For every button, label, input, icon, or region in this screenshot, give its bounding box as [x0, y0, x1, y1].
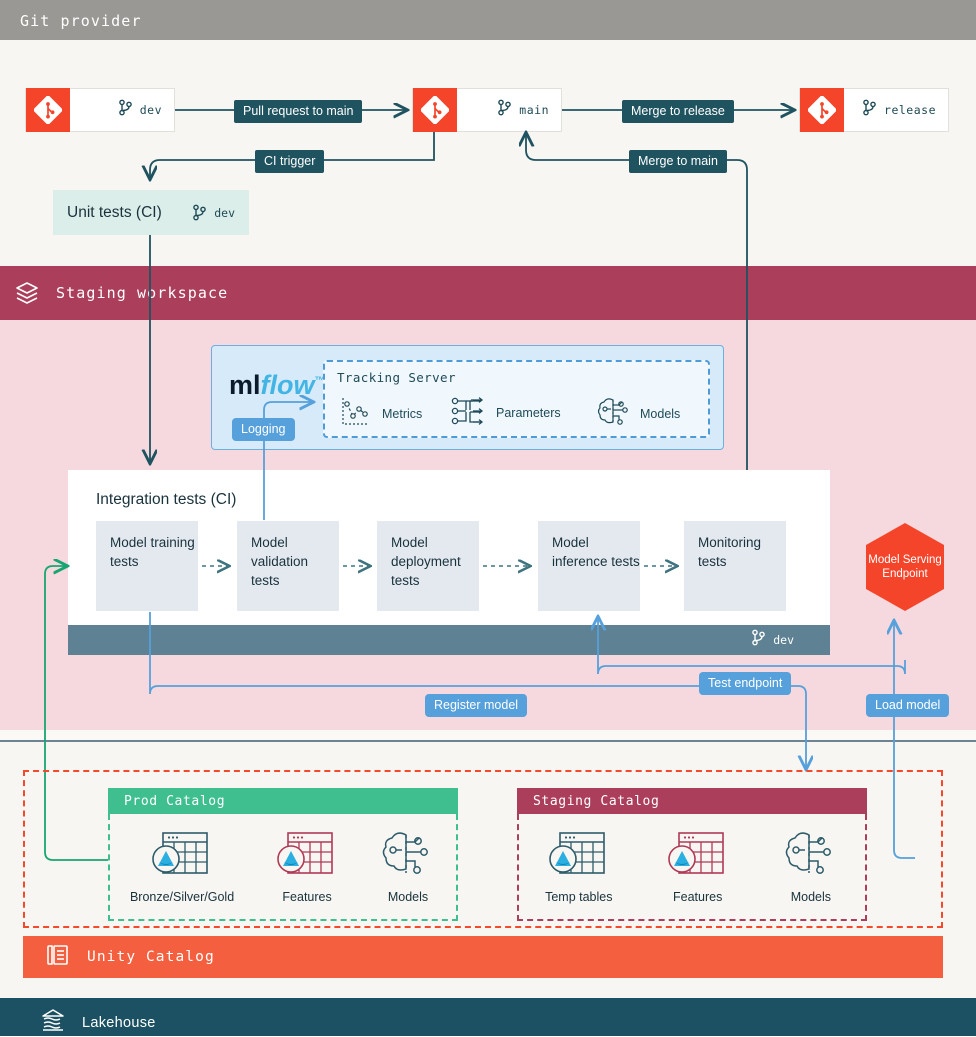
label-merge-to-main: Merge to main [629, 150, 727, 173]
unit-tests-box[interactable]: Unit tests (CI) dev [53, 190, 249, 235]
parameters-node-icon [451, 396, 487, 429]
catalog-item-label: Models [380, 890, 436, 904]
catalog-item-label: Features [665, 890, 731, 904]
section-gap [0, 730, 976, 740]
branch-name: main [519, 103, 549, 117]
branch-icon [751, 629, 766, 651]
delta-table-icon [546, 868, 612, 885]
tracking-item-label: Parameters [496, 406, 561, 420]
test-card-monitoring[interactable]: Monitoring tests [684, 521, 786, 611]
branch-name: dev [773, 633, 794, 647]
mlflow-logo: mlflow™ [229, 370, 326, 401]
tracking-item-label: Models [640, 407, 680, 421]
brain-model-icon [783, 868, 839, 885]
label-register-model: Register model [425, 694, 527, 717]
tracking-item-parameters: Parameters [451, 396, 561, 429]
catalog-item-features[interactable]: Features [665, 829, 731, 904]
git-logo-icon [413, 88, 457, 132]
git-provider-title: Git provider [20, 12, 142, 30]
test-card-model-inference[interactable]: Model inference tests [538, 521, 640, 611]
staging-workspace-title: Staging workspace [56, 284, 228, 302]
branch-name: release [884, 103, 936, 117]
catalog-item-bronze-silver-gold[interactable]: Bronze/Silver/Gold [130, 829, 234, 904]
git-logo-icon [26, 88, 70, 132]
unity-catalog-bar: Unity Catalog [23, 936, 943, 978]
label-merge-to-release: Merge to release [622, 100, 734, 123]
branch-name: dev [140, 103, 162, 117]
lakehouse-icon [40, 1008, 66, 1037]
catalog-item-temp-tables[interactable]: Temp tables [545, 829, 612, 904]
tracking-server-title: Tracking Server [337, 370, 456, 385]
unit-tests-label: Unit tests (CI) [67, 204, 162, 222]
branch-icon [118, 99, 133, 121]
brain-model-icon [380, 868, 436, 885]
feature-table-icon [274, 868, 340, 885]
branch-name: dev [214, 206, 235, 220]
unity-catalog-title: Unity Catalog [87, 949, 215, 965]
label-logging: Logging [232, 418, 295, 441]
model-serving-endpoint[interactable]: Model Serving Endpoint [866, 523, 944, 611]
workspace-stack-icon [14, 280, 40, 311]
tracking-item-models: Models [597, 396, 680, 431]
branch-icon [862, 99, 877, 121]
catalog-item-label: Bronze/Silver/Gold [130, 890, 234, 904]
catalog-title: Staging Catalog [517, 788, 867, 814]
lakehouse-title: Lakehouse [82, 1015, 156, 1031]
branch-icon: dev [192, 204, 235, 221]
label-ci-trigger: CI trigger [255, 150, 324, 173]
repo-card-dev[interactable]: dev [25, 88, 175, 132]
git-logo-icon [800, 88, 844, 132]
repo-card-release[interactable]: release [799, 88, 949, 132]
branch-icon [497, 99, 512, 121]
test-card-model-validation[interactable]: Model validation tests [237, 521, 339, 611]
label-load-model: Load model [866, 694, 949, 717]
catalog-item-models[interactable]: Models [783, 829, 839, 904]
catalog-staging: Staging Catalog Temp tables [517, 788, 867, 921]
catalog-book-icon [45, 942, 71, 973]
catalog-title: Prod Catalog [108, 788, 458, 814]
metrics-chart-icon [339, 396, 373, 431]
tracking-item-label: Metrics [382, 407, 422, 421]
repo-card-main[interactable]: main [412, 88, 562, 132]
test-card-model-training[interactable]: Model training tests [96, 521, 198, 611]
catalog-item-features[interactable]: Features [274, 829, 340, 904]
integration-tests-title: Integration tests (CI) [96, 491, 236, 509]
brain-model-icon [597, 396, 631, 431]
catalog-item-models[interactable]: Models [380, 829, 436, 904]
git-provider-band [0, 0, 976, 40]
delta-table-icon [149, 868, 215, 885]
feature-table-icon [665, 868, 731, 885]
tracking-item-metrics: Metrics [339, 396, 422, 431]
label-pull-request: Pull request to main [234, 100, 362, 123]
lakehouse-row: Lakehouse [40, 1008, 156, 1037]
label-test-endpoint: Test endpoint [699, 672, 791, 695]
catalog-item-label: Models [783, 890, 839, 904]
model-serving-endpoint-label: Model Serving Endpoint [866, 553, 944, 581]
integration-tests-footer: dev [68, 625, 830, 655]
catalog-prod: Prod Catalog Bronze/Silver/Gold [108, 788, 458, 921]
catalog-item-label: Features [274, 890, 340, 904]
tracking-server-box: Tracking Server Metrics [323, 360, 710, 438]
test-card-model-deployment[interactable]: Model deployment tests [377, 521, 479, 611]
catalog-item-label: Temp tables [545, 890, 612, 904]
